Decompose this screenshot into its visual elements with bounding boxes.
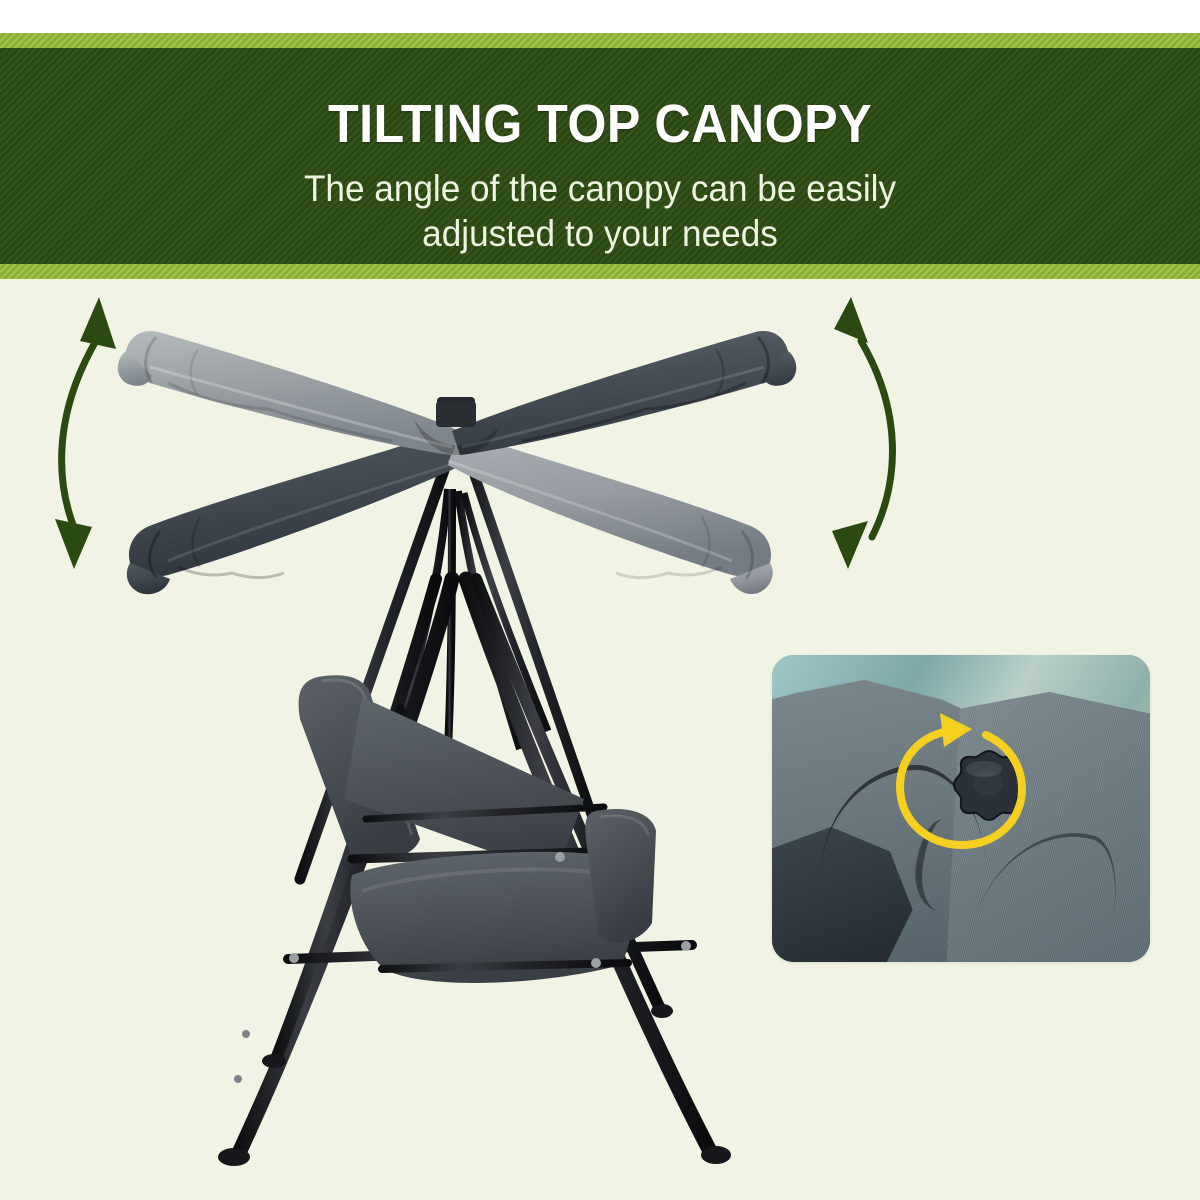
rotation-arrow-icon [772,655,1150,962]
top-white-margin [0,0,1200,33]
page-title: TILTING TOP CANOPY [42,96,1158,152]
product-feature-page: TILTING TOP CANOPY The angle of the cano… [0,0,1200,1200]
page-subtitle-line-1: The angle of the canopy can be easily [30,166,1170,211]
banner-body: TILTING TOP CANOPY The angle of the cano… [0,48,1200,264]
page-subtitle-line-2: adjusted to your needs [30,211,1170,256]
detail-inset-photo [772,655,1150,962]
banner-top-stripe [0,33,1200,48]
illustration-stage [0,279,1200,1200]
banner-bottom-stripe [0,264,1200,279]
canopy-arm-upper-left [118,331,460,455]
tilt-arrow-right-icon [832,297,892,569]
tilt-arrow-left-icon [55,297,116,569]
page-subtitle: The angle of the canopy can be easily ad… [30,166,1170,256]
canopy-arm-upper-right [452,331,796,455]
swing-seat [299,675,656,983]
canopy-arm-lower-right [448,431,773,594]
header-banner: TILTING TOP CANOPY The angle of the cano… [0,33,1200,279]
